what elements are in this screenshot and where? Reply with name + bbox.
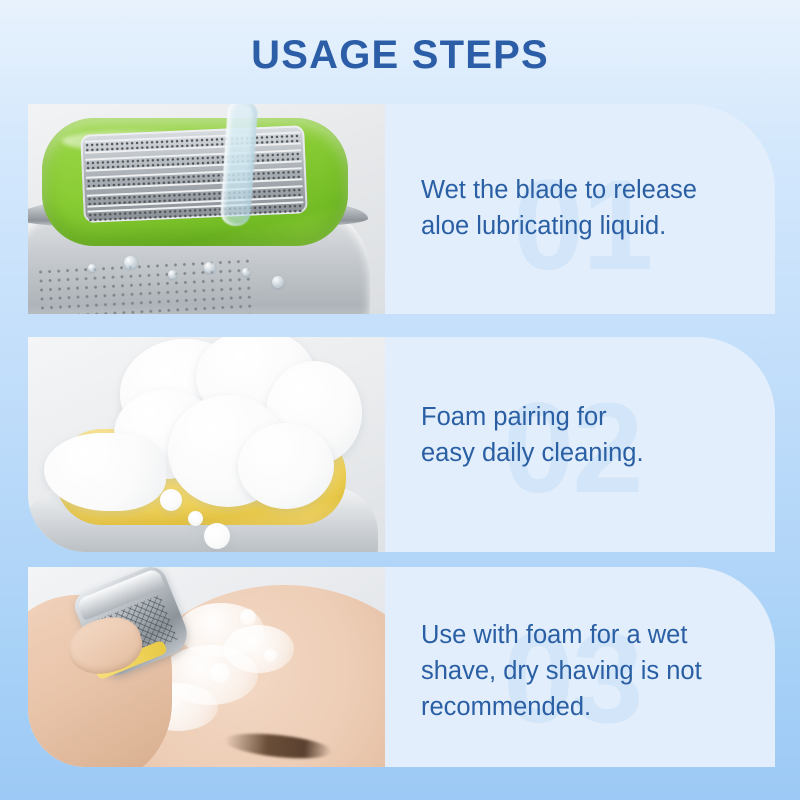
step-row-2: 02 Foam pairing for easy daily cleaning. (28, 337, 775, 552)
step-1-line-1: Wet the blade to release (421, 172, 761, 208)
lather-bubble (264, 649, 277, 662)
shaver-mesh-dots (36, 256, 258, 314)
step-3-copy: Use with foam for a wet shave, dry shavi… (385, 567, 775, 726)
step-3-line-2: shave, dry shaving is not (421, 653, 761, 689)
step-2-text-panel: 02 Foam pairing for easy daily cleaning. (385, 337, 775, 552)
step-1-image (28, 104, 385, 314)
step-2-line-1: Foam pairing for (421, 399, 761, 435)
foam-speck (160, 489, 182, 511)
foam-speck (204, 523, 230, 549)
step-3-line-1: Use with foam for a wet (421, 617, 761, 653)
step-2-line-2: easy daily cleaning. (421, 435, 761, 471)
water-droplet (242, 268, 250, 276)
blade-foil (80, 125, 308, 223)
step-3-image (28, 567, 385, 767)
step-3-line-3: recommended. (421, 689, 761, 725)
step-2-image (28, 337, 385, 552)
water-droplet (88, 264, 96, 272)
step-3-text-panel: 03 Use with foam for a wet shave, dry sh… (385, 567, 775, 767)
foam-blob (238, 423, 334, 509)
step-row-3: 03 Use with foam for a wet shave, dry sh… (28, 567, 775, 767)
page-title: USAGE STEPS (251, 29, 549, 75)
lather-bubble (210, 663, 230, 683)
water-droplet (272, 276, 284, 288)
wet-shave-photo (28, 567, 385, 767)
step-1-text-panel: 01 Wet the blade to release aloe lubrica… (385, 104, 775, 314)
foam-speck (188, 511, 203, 526)
step-2-copy: Foam pairing for easy daily cleaning. (385, 337, 775, 471)
step-1-line-2: aloe lubricating liquid. (421, 208, 761, 244)
shaver-aloe-photo (28, 104, 385, 314)
lather-bubble (240, 609, 256, 625)
step-1-copy: Wet the blade to release aloe lubricatin… (385, 104, 775, 244)
water-droplet (168, 270, 177, 279)
title-bar: USAGE STEPS (0, 0, 800, 104)
foam-shaver-photo (28, 337, 385, 552)
water-droplet (204, 262, 215, 273)
step-row-1: 01 Wet the blade to release aloe lubrica… (28, 104, 775, 314)
water-droplet (124, 256, 137, 269)
